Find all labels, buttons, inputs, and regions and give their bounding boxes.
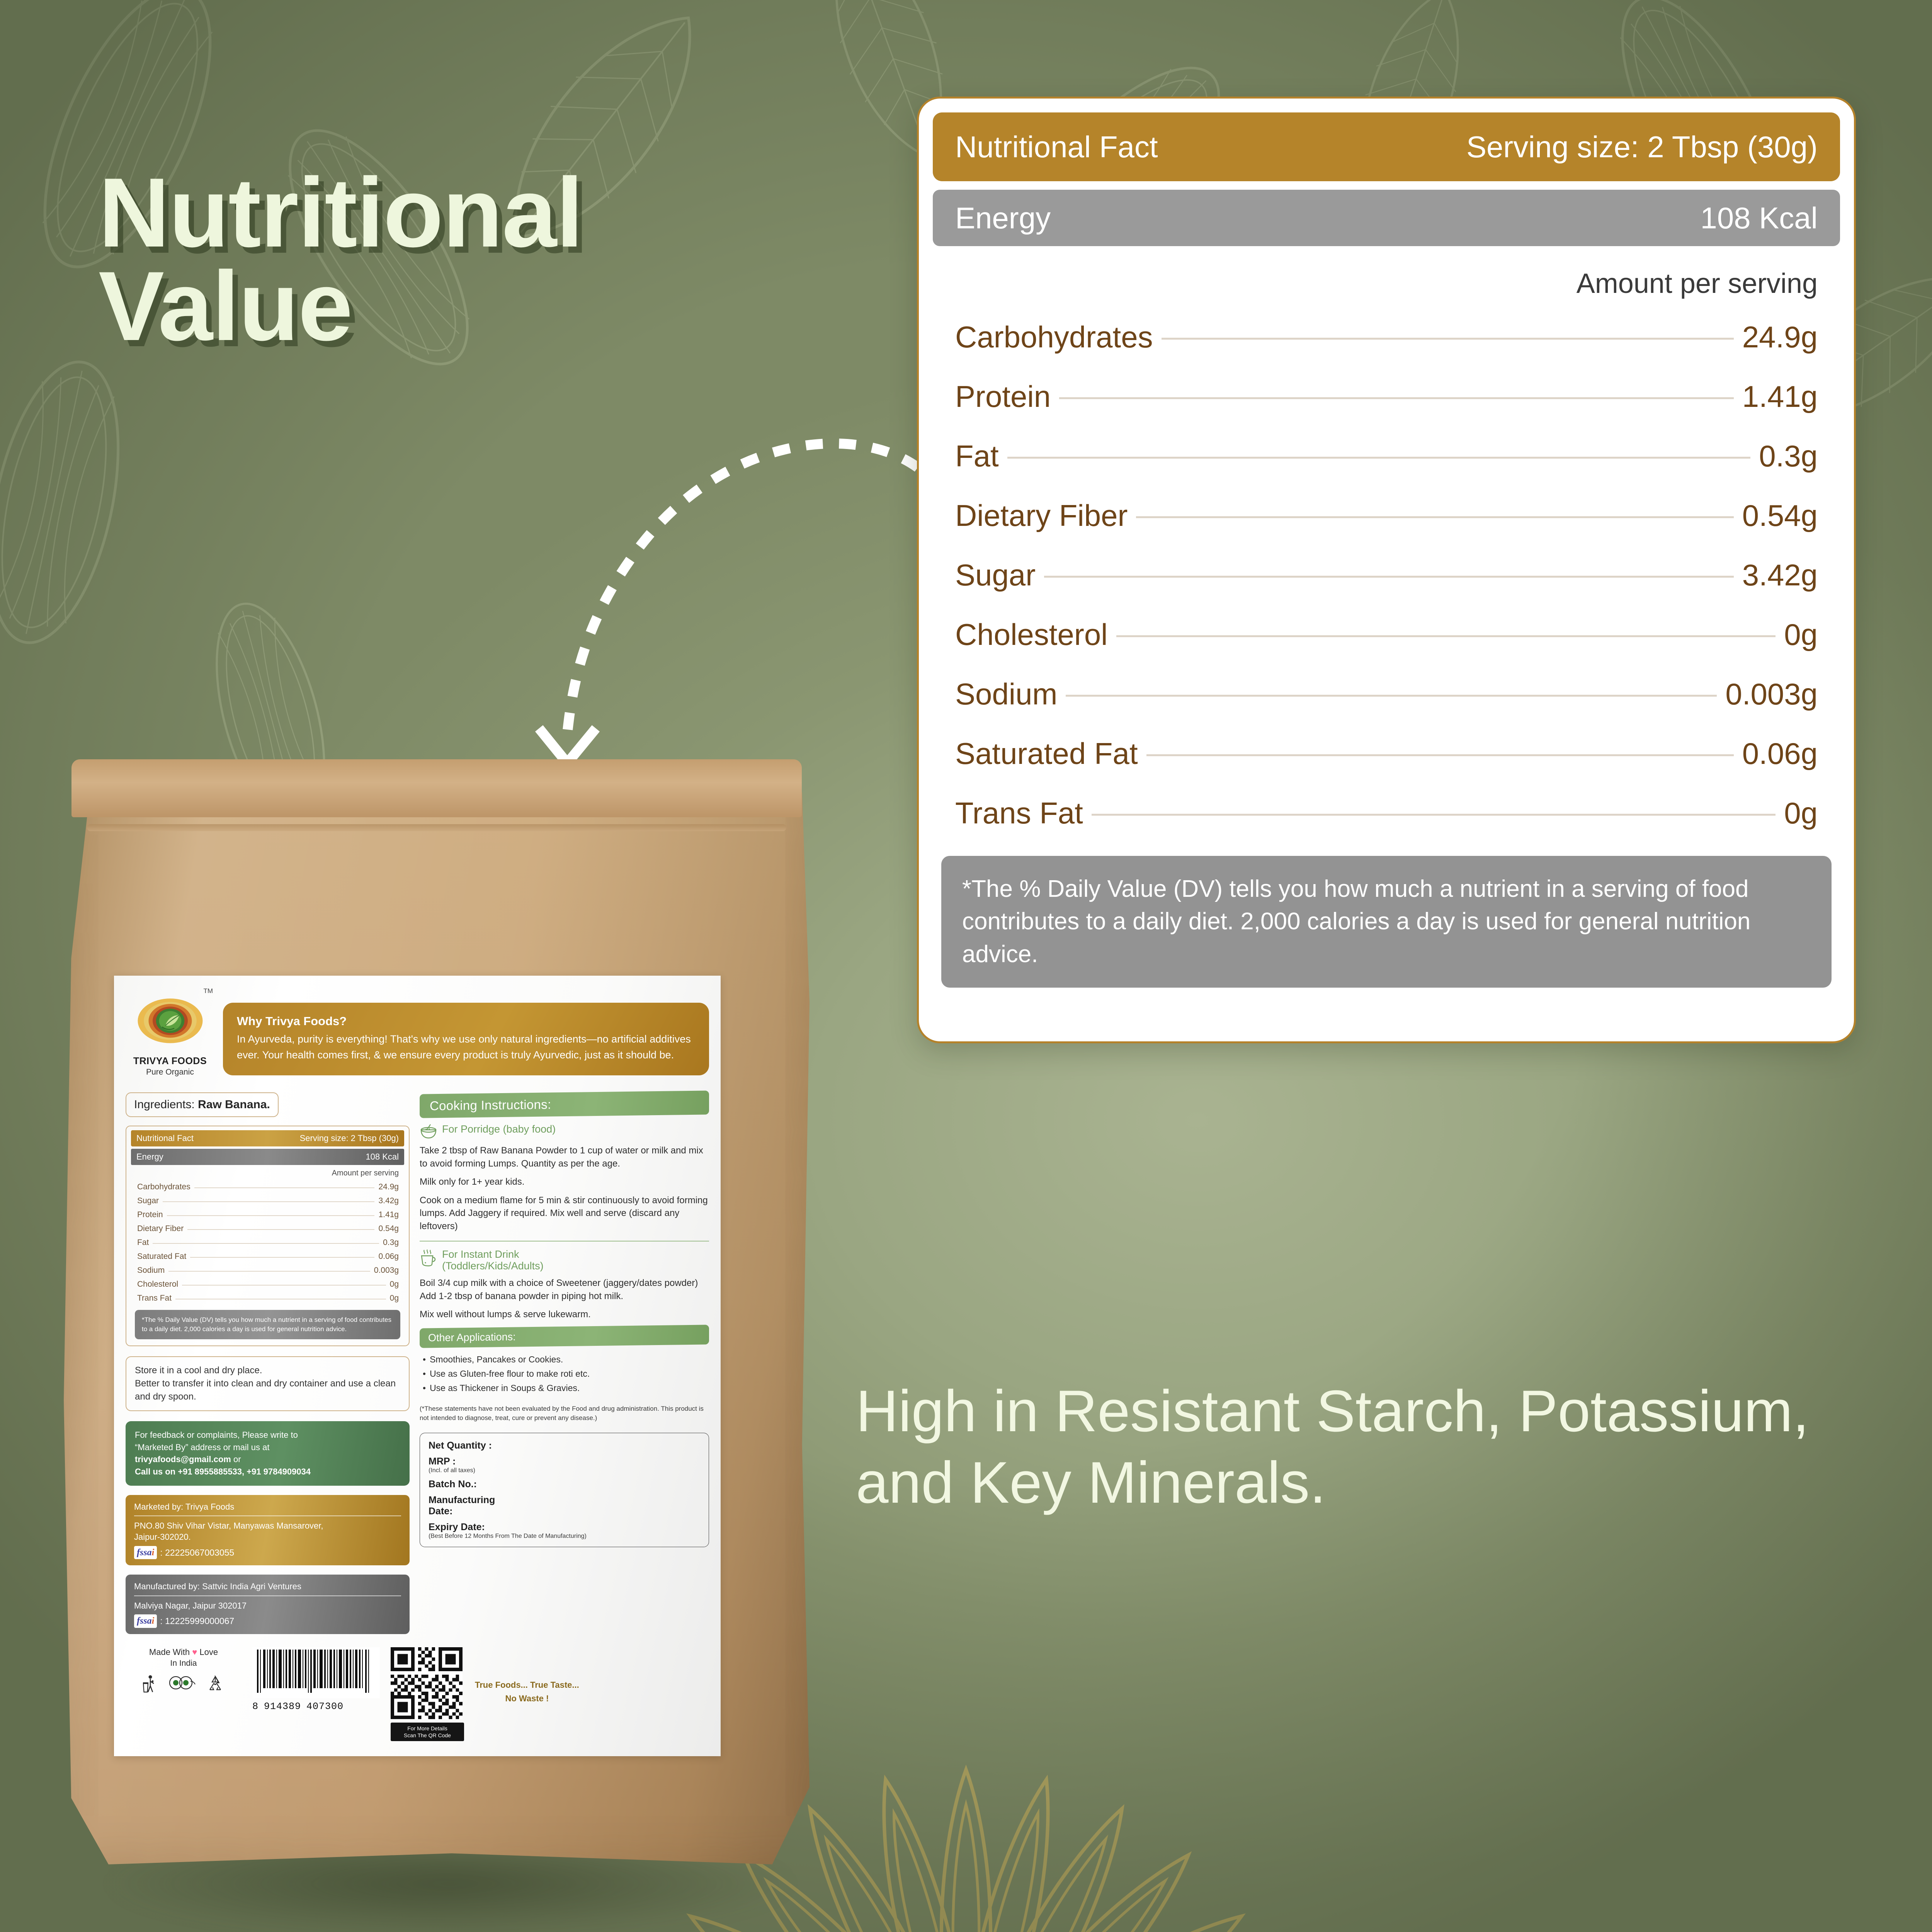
label-columns: Ingredients: Raw Banana. Nutritional Fac… [126, 1092, 709, 1634]
leader-line [175, 1299, 386, 1299]
nutrient-value: 0.54g [378, 1224, 399, 1233]
leader-line [167, 1215, 375, 1216]
logo-mark-icon [136, 994, 204, 1052]
package-nutrition-row: Sugar 3.42g [131, 1194, 404, 1208]
feedback-line-2: “Marketed By” address or mail us at [135, 1441, 400, 1454]
ingredients-value: Raw Banana. [198, 1098, 270, 1111]
manufacturing-date-label-2: Date: [429, 1506, 700, 1517]
nutrient-label: Trans Fat [955, 796, 1083, 831]
qr-caption: For More Details Scan The QR Code [391, 1723, 464, 1741]
qr-code-icon[interactable] [391, 1647, 463, 1719]
mrp-note: (Incl. of all taxes) [429, 1467, 700, 1474]
fssai-logo-icon: fssai [134, 1546, 157, 1559]
instant-drink-title-2: (Toddlers/Kids/Adults) [442, 1260, 544, 1272]
nutrition-row: Saturated Fat 0.06g [955, 724, 1818, 783]
qr-code-block[interactable]: For More Details Scan The QR Code [391, 1647, 464, 1741]
manufactured-fssai-number: : 12225999000067 [160, 1615, 234, 1627]
nutrient-value: 0g [1784, 796, 1818, 831]
leader-line [1136, 516, 1733, 518]
package-nutrition-row: Carbohydrates 24.9g [131, 1180, 404, 1194]
feedback-or: or [233, 1454, 241, 1464]
label-top-section: TM TRIVYA FOODS Pure Organic Why Trivya … [126, 986, 709, 1077]
other-applications-heading: Other Applications: [420, 1325, 709, 1348]
nutrient-value: 1.41g [1742, 379, 1818, 414]
why-trivya-foods-box: Why Trivya Foods? In Ayurveda, purity is… [223, 1003, 709, 1075]
leader-line [153, 1243, 379, 1244]
porridge-title-row: For Porridge (baby food) [420, 1123, 709, 1139]
net-quantity-label: Net Quantity : [429, 1440, 700, 1451]
barcode-icon [252, 1647, 380, 1698]
pouch-back-label: TM TRIVYA FOODS Pure Organic Why Trivya … [114, 976, 721, 1756]
porridge-para-1: Take 2 tbsp of Raw Banana Powder to 1 cu… [420, 1144, 709, 1170]
label-left-column: Ingredients: Raw Banana. Nutritional Fac… [126, 1092, 410, 1634]
veg-mark-icon [168, 1674, 196, 1694]
package-nutrition-row: Dietary Fiber 0.54g [131, 1222, 404, 1236]
nutrient-label: Protein [137, 1210, 163, 1219]
porridge-para-3: Cook on a medium flame for 5 min & stir … [420, 1194, 709, 1233]
nutrient-value: 0.06g [378, 1252, 399, 1261]
feedback-email: trivyafoods@gmail.com [135, 1454, 231, 1464]
leader-line [1162, 338, 1734, 340]
nutrient-value: 24.9g [378, 1182, 399, 1192]
feedback-phones: Call us on +91 8955885533, +91 978490903… [135, 1467, 311, 1476]
leader-line [187, 1229, 374, 1230]
nutrition-card-energy-row: Energy 108 Kcal [933, 190, 1840, 246]
nutrient-value: 3.42g [378, 1196, 399, 1206]
package-nutrition-row: Sodium 0.003g [131, 1264, 404, 1277]
list-item: Use as Thickener in Soups & Gravies. [423, 1381, 709, 1395]
fssai-logo-icon: fssai [134, 1614, 157, 1628]
logo-tagline: Pure Organic [126, 1068, 214, 1077]
nutrition-row: Cholesterol 0g [955, 605, 1818, 664]
nutrition-row: Trans Fat 0g [955, 783, 1818, 843]
nutrient-label: Carbohydrates [955, 320, 1153, 355]
porridge-title: For Porridge (baby food) [442, 1123, 556, 1135]
package-energy-value: 108 Kcal [366, 1152, 399, 1162]
mrp-label: MRP : [429, 1456, 700, 1467]
nutrition-row: Sugar 3.42g [955, 545, 1818, 605]
why-title: Why Trivya Foods? [237, 1014, 695, 1028]
made-with-love-line: Made With ♥ Love [126, 1647, 241, 1657]
in-india-text: In India [126, 1659, 241, 1668]
list-item: Smoothies, Pancakes or Cookies. [423, 1352, 709, 1367]
manufactured-address: Malviya Nagar, Jaipur 302017 [134, 1600, 401, 1612]
nutrient-value: 0.54g [1742, 498, 1818, 533]
feedback-box: For feedback or complaints, Please write… [126, 1421, 410, 1486]
qr-caption-line-2: Scan The QR Code [392, 1732, 463, 1739]
leader-line [1007, 457, 1750, 459]
package-nutrition-row: Saturated Fat 0.06g [131, 1250, 404, 1264]
nutrient-label: Sodium [955, 677, 1057, 712]
package-table-title: Nutritional Fact [136, 1133, 194, 1143]
barcode-block: 8 914389 407300 [252, 1647, 380, 1712]
porridge-block: For Porridge (baby food) Take 2 tbsp of … [420, 1123, 709, 1233]
package-table-energy-row: Energy 108 Kcal [131, 1149, 404, 1165]
instant-drink-body: Boil 3/4 cup milk with a choice of Sweet… [420, 1277, 709, 1321]
net-quantity-box: Net Quantity : MRP : (Incl. of all taxes… [420, 1433, 709, 1547]
package-daily-value-footnote: *The % Daily Value (DV) tells you how mu… [135, 1310, 400, 1339]
nutrient-label: Protein [955, 379, 1051, 414]
page-title: Nutritional Value [99, 166, 871, 354]
pouch-top-seal [71, 759, 802, 817]
leader-line [1092, 814, 1776, 816]
qr-caption-line-1: For More Details [392, 1725, 463, 1732]
nutrient-value: 0.3g [1759, 439, 1818, 474]
nutrient-value: 0g [390, 1294, 399, 1303]
instant-drink-para-2: Mix well without lumps & serve lukewarm. [420, 1308, 709, 1321]
package-nutrition-row: Protein 1.41g [131, 1208, 404, 1222]
love-text: Love [199, 1647, 218, 1657]
made-with-love-block: Made With ♥ Love In India [126, 1647, 241, 1694]
nutrient-value: 0g [390, 1280, 399, 1289]
nutrient-label: Sugar [955, 558, 1036, 593]
leader-line [1066, 695, 1717, 697]
expiry-note: (Best Before 12 Months From The Date of … [429, 1533, 700, 1540]
made-with-text: Made With [149, 1647, 190, 1657]
porridge-para-2: Milk only for 1+ year kids. [420, 1175, 709, 1189]
section-divider [420, 1241, 709, 1242]
slogan-line-2: No Waste ! [475, 1692, 579, 1705]
slogan-line-1: True Foods... True Taste... [475, 1678, 579, 1692]
package-nutrition-table: Nutritional Fact Serving size: 2 Tbsp (3… [126, 1126, 410, 1346]
package-table-header: Nutritional Fact Serving size: 2 Tbsp (3… [131, 1130, 404, 1146]
storage-instructions-box: Store it in a cool and dry place. Better… [126, 1356, 410, 1411]
instant-drink-title: For Instant Drink (Toddlers/Kids/Adults) [442, 1248, 544, 1272]
ingredients-box: Ingredients: Raw Banana. [126, 1092, 279, 1117]
leader-line [194, 1187, 375, 1188]
label-right-column: Cooking Instructions: For Porridge (baby… [420, 1092, 709, 1547]
ingredients-prefix: Ingredients: [134, 1098, 195, 1111]
nutrient-label: Dietary Fiber [137, 1224, 184, 1233]
barcode-digit-group-2: 914389 [264, 1701, 301, 1712]
other-applications-list: Smoothies, Pancakes or Cookies. Use as G… [420, 1352, 709, 1396]
nutrient-value: 0g [1784, 617, 1818, 652]
barcode-digit-group-3: 407300 [306, 1701, 344, 1712]
nutrient-label: Trans Fat [137, 1294, 172, 1303]
leader-line [190, 1257, 374, 1258]
nutrient-value: 3.42g [1742, 558, 1818, 593]
package-table-serving-size: Serving size: 2 Tbsp (30g) [300, 1133, 399, 1143]
nutrient-label: Saturated Fat [137, 1252, 186, 1261]
manufactured-by-title: Manufactured by: Sattvic India Agri Vent… [134, 1581, 401, 1592]
amount-per-serving-label: Amount per serving [933, 246, 1840, 307]
manufactured-fssai-line: fssai : 12225999000067 [134, 1614, 401, 1628]
page-title-line2: Value [99, 260, 871, 353]
leader-line [182, 1285, 386, 1286]
true-foods-slogan: True Foods... True Taste... No Waste ! [475, 1647, 579, 1705]
product-pouch: TM TRIVYA FOODS Pure Organic Why Trivya … [64, 759, 848, 1895]
instant-drink-para-1: Boil 3/4 cup milk with a choice of Sweet… [420, 1277, 709, 1303]
instant-drink-title-1: For Instant Drink [442, 1248, 519, 1260]
marketed-by-title: Marketed by: Trivya Foods [134, 1501, 401, 1513]
batch-no-label: Batch No.: [429, 1479, 700, 1490]
expiry-date-label: Expiry Date: [429, 1522, 700, 1533]
marketed-address-line-1: PNO.80 Shiv Vihar Vistar, Manyawas Mansa… [134, 1520, 401, 1532]
leader-line [1116, 635, 1776, 637]
nutrition-facts-card: Nutritional Fact Serving size: 2 Tbsp (3… [917, 97, 1856, 1043]
recycle-icon [206, 1674, 224, 1694]
leader-line [1146, 754, 1734, 756]
leader-line [1044, 576, 1734, 578]
why-body: In Ayurveda, purity is everything! That'… [237, 1031, 695, 1063]
divider [134, 1515, 401, 1516]
nutrition-row: Protein 1.41g [955, 367, 1818, 426]
dispose-in-bin-icon [143, 1674, 158, 1694]
nutrient-value: 1.41g [378, 1210, 399, 1219]
instant-drink-title-row: For Instant Drink (Toddlers/Kids/Adults) [420, 1248, 709, 1272]
steaming-cup-icon [420, 1248, 437, 1267]
energy-label: Energy [955, 201, 1051, 236]
package-nutrition-row: Cholesterol 0g [131, 1277, 404, 1291]
nutrient-value: 0.003g [1725, 677, 1818, 712]
nutrient-label: Saturated Fat [955, 736, 1138, 771]
feedback-line-1: For feedback or complaints, Please write… [135, 1429, 400, 1441]
marketed-by-box: Marketed by: Trivya Foods PNO.80 Shiv Vi… [126, 1495, 410, 1566]
porridge-bowl-icon [420, 1123, 437, 1139]
eco-icons-group [126, 1674, 241, 1694]
curved-arrow-icon [444, 394, 931, 773]
porridge-body: Take 2 tbsp of Raw Banana Powder to 1 cu… [420, 1144, 709, 1233]
list-item: Use as Gluten-free flour to make roti et… [423, 1367, 709, 1381]
energy-value: 108 Kcal [1700, 201, 1818, 236]
instant-drink-block: For Instant Drink (Toddlers/Kids/Adults)… [420, 1248, 709, 1321]
storage-text: Store it in a cool and dry place. Better… [135, 1365, 396, 1402]
cooking-instructions-heading: Cooking Instructions: [420, 1090, 709, 1118]
benefit-tagline: High in Resistant Starch, Potassium, and… [856, 1376, 1814, 1519]
nutrient-label: Dietary Fiber [955, 498, 1128, 533]
heart-icon: ♥ [192, 1647, 197, 1657]
nutrition-rows: Carbohydrates 24.9g Protein 1.41g Fat 0.… [933, 307, 1840, 843]
nutrient-label: Carbohydrates [137, 1182, 190, 1192]
nutrient-label: Cholesterol [137, 1280, 178, 1289]
leader-line [1059, 397, 1734, 399]
nutrient-value: 0.003g [374, 1266, 399, 1275]
nutrient-value: 0.06g [1742, 736, 1818, 771]
nutrition-row: Carbohydrates 24.9g [955, 307, 1818, 367]
marketed-fssai-line: fssai : 22225067003055 [134, 1546, 401, 1559]
nutrition-row: Fat 0.3g [955, 426, 1818, 486]
manufactured-by-box: Manufactured by: Sattvic India Agri Vent… [126, 1575, 410, 1634]
nutrient-value: 24.9g [1742, 320, 1818, 355]
nutrient-label: Sodium [137, 1266, 165, 1275]
pouch-zipper [87, 824, 786, 831]
package-nutrition-row: Trans Fat 0g [131, 1291, 404, 1305]
brand-logo: TM TRIVYA FOODS Pure Organic [126, 986, 214, 1077]
divider [134, 1595, 401, 1596]
nutrition-card-title: Nutritional Fact [955, 129, 1158, 165]
daily-value-footnote: *The % Daily Value (DV) tells you how mu… [941, 856, 1832, 988]
barcode-digit-group-1: 8 [252, 1701, 259, 1712]
nutrient-label: Fat [137, 1238, 149, 1247]
nutrient-label: Fat [955, 439, 999, 474]
trademark-symbol: TM [203, 987, 213, 995]
fda-disclaimer: (*These statements have not been evaluat… [420, 1404, 709, 1423]
leader-line [168, 1271, 370, 1272]
label-footer: Made With ♥ Love In India [126, 1647, 709, 1741]
nutrition-card-serving-size: Serving size: 2 Tbsp (30g) [1466, 129, 1818, 165]
nutrition-row: Sodium 0.003g [955, 664, 1818, 724]
package-nutrition-row: Fat 0.3g [131, 1236, 404, 1250]
marketed-address-line-2: Jaipur-302020. [134, 1531, 401, 1543]
nutrition-card-header: Nutritional Fact Serving size: 2 Tbsp (3… [933, 112, 1840, 181]
barcode-digits: 8 914389 407300 [252, 1701, 380, 1712]
logo-brand-name: TRIVYA FOODS [126, 1056, 214, 1067]
package-energy-label: Energy [136, 1152, 163, 1162]
nutrient-label: Sugar [137, 1196, 159, 1206]
nutrition-row: Dietary Fiber 0.54g [955, 486, 1818, 545]
marketed-fssai-number: : 22225067003055 [160, 1547, 234, 1559]
nutrient-label: Cholesterol [955, 617, 1108, 652]
leader-line [163, 1201, 374, 1202]
nutrient-value: 0.3g [383, 1238, 399, 1247]
package-amount-per-serving: Amount per serving [131, 1165, 404, 1180]
manufacturing-date-label-1: Manufacturing [429, 1495, 700, 1506]
